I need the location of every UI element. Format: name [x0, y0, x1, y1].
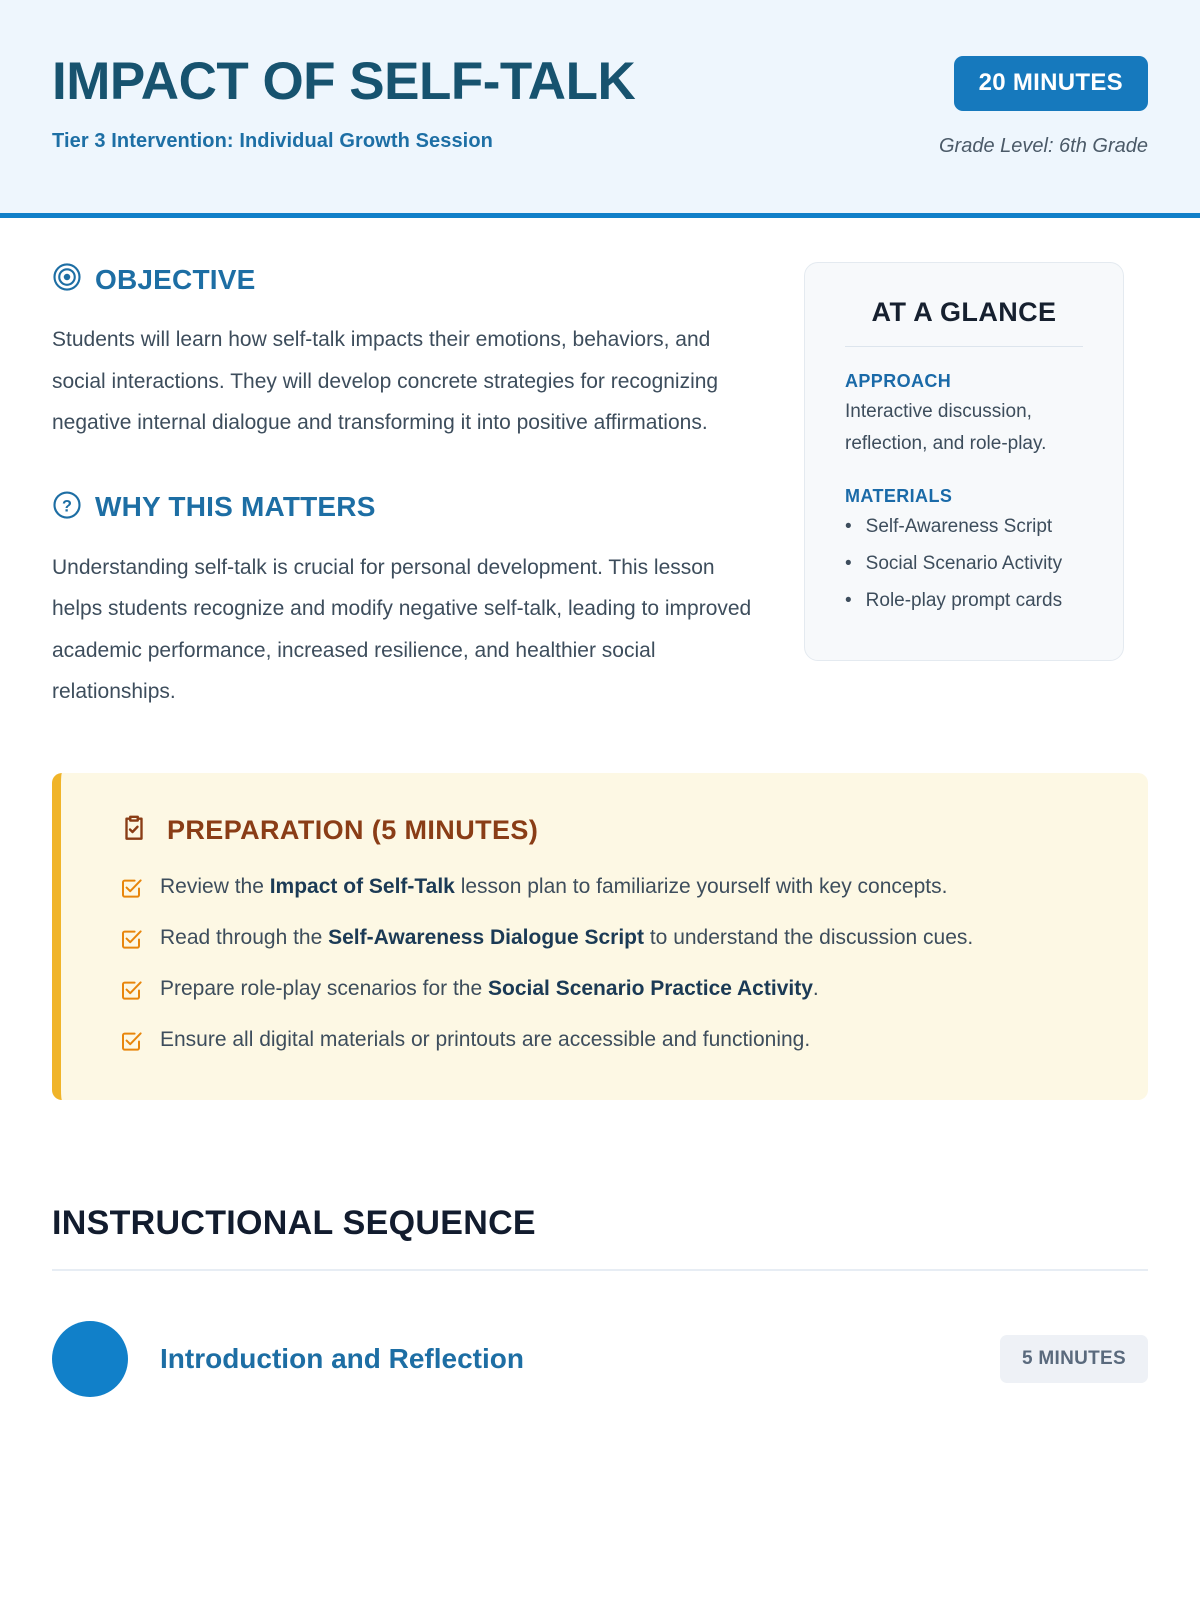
material-label: Role-play prompt cards [866, 590, 1062, 611]
list-item: Read through the Self-Awareness Dialogue… [119, 921, 1102, 956]
question-circle-icon: ? [52, 490, 82, 525]
target-icon [52, 262, 82, 297]
approach-group: APPROACH Interactive discussion, reflect… [845, 371, 1083, 460]
objective-heading: OBJECTIVE [95, 264, 256, 296]
bullet-icon: • [845, 516, 852, 537]
duration-badge: 20 MINUTES [954, 56, 1148, 111]
preparation-item-text: Ensure all digital materials or printout… [160, 1023, 810, 1057]
page-title: IMPACT OF SELF-TALK [52, 54, 635, 110]
sidebar-column: AT A GLANCE APPROACH Interactive discuss… [804, 262, 1124, 661]
instructional-sequence-title: INSTRUCTIONAL SEQUENCE [52, 1204, 1148, 1243]
list-item: •Social Scenario Activity [845, 548, 1083, 580]
material-label: Social Scenario Activity [866, 553, 1062, 574]
step-title: Introduction and Reflection [160, 1343, 968, 1375]
section-spacer [52, 444, 764, 490]
objective-text: Students will learn how self-talk impact… [52, 319, 764, 444]
at-a-glance-divider [845, 346, 1083, 347]
checkbox-checked-icon[interactable] [119, 876, 143, 905]
step-duration-badge: 5 MINUTES [1000, 1335, 1148, 1383]
approach-text: Interactive discussion, reflection, and … [845, 396, 1083, 460]
bullet-icon: • [845, 553, 852, 574]
lesson-plan-page: IMPACT OF SELF-TALK Tier 3 Intervention:… [0, 0, 1200, 1600]
preparation-heading-row: PREPARATION (5 MINUTES) [119, 813, 1102, 848]
preparation-item-text: Read through the Self-Awareness Dialogue… [160, 921, 973, 955]
preparation-item-text: Prepare role-play scenarios for the Soci… [160, 972, 819, 1006]
main-content-column: OBJECTIVE Students will learn how self-t… [52, 262, 764, 713]
checkbox-checked-icon[interactable] [119, 1029, 143, 1058]
at-a-glance-title: AT A GLANCE [845, 297, 1083, 328]
top-columns: OBJECTIVE Students will learn how self-t… [52, 262, 1148, 713]
material-label: Self-Awareness Script [866, 516, 1053, 537]
preparation-callout: PREPARATION (5 MINUTES) Review the Impac… [52, 773, 1148, 1100]
list-item: Ensure all digital materials or printout… [119, 1023, 1102, 1058]
page-body: OBJECTIVE Students will learn how self-t… [0, 218, 1200, 1397]
clipboard-check-icon [119, 813, 149, 848]
approach-label: APPROACH [845, 371, 1083, 392]
preparation-heading: PREPARATION (5 MINUTES) [167, 815, 538, 846]
instructional-sequence-section: INSTRUCTIONAL SEQUENCE Introduction and … [52, 1204, 1148, 1397]
header-right-group: 20 MINUTES Grade Level: 6th Grade [939, 52, 1148, 158]
header-left-group: IMPACT OF SELF-TALK Tier 3 Intervention:… [52, 52, 635, 153]
page-subtitle: Tier 3 Intervention: Individual Growth S… [52, 130, 635, 153]
materials-label: MATERIALS [845, 486, 1083, 507]
instructional-sequence-divider [52, 1269, 1148, 1271]
checkbox-checked-icon[interactable] [119, 978, 143, 1007]
list-item: •Role-play prompt cards [845, 585, 1083, 617]
bullet-icon: • [845, 590, 852, 611]
checkbox-checked-icon[interactable] [119, 927, 143, 956]
why-heading-row: ? WHY THIS MATTERS [52, 490, 764, 525]
at-a-glance-card: AT A GLANCE APPROACH Interactive discuss… [804, 262, 1124, 661]
svg-text:?: ? [62, 497, 72, 515]
list-item: Prepare role-play scenarios for the Soci… [119, 972, 1102, 1007]
list-item[interactable]: Introduction and Reflection 5 MINUTES [52, 1321, 1148, 1397]
materials-group: MATERIALS •Self-Awareness Script •Social… [845, 486, 1083, 617]
list-item: •Self-Awareness Script [845, 511, 1083, 543]
objective-heading-row: OBJECTIVE [52, 262, 764, 297]
why-this-matters-heading: WHY THIS MATTERS [95, 491, 376, 523]
page-header: IMPACT OF SELF-TALK Tier 3 Intervention:… [0, 0, 1200, 218]
step-number-circle [52, 1321, 128, 1397]
preparation-item-text: Review the Impact of Self-Talk lesson pl… [160, 870, 947, 904]
list-item: Review the Impact of Self-Talk lesson pl… [119, 870, 1102, 905]
why-this-matters-text: Understanding self-talk is crucial for p… [52, 547, 764, 713]
grade-level-label: Grade Level: 6th Grade [939, 135, 1148, 158]
